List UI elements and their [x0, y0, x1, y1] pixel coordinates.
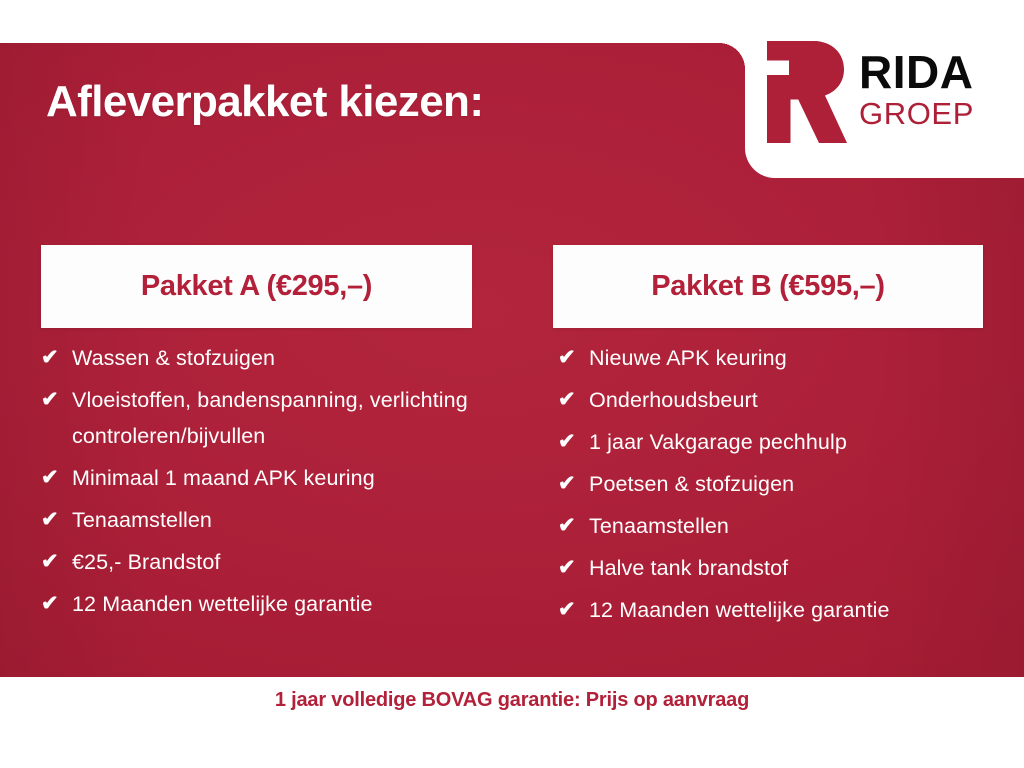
list-item: ✔Tenaamstellen	[41, 502, 511, 538]
package-a-header[interactable]: Pakket A (€295,–)	[41, 245, 472, 328]
checkmark-icon: ✔	[558, 382, 580, 418]
footer-note: 1 jaar volledige BOVAG garantie: Prijs o…	[275, 689, 749, 712]
list-item: ✔Vloeistoffen, bandenspanning, verlichti…	[41, 382, 511, 454]
list-item-label: Nieuwe APK keuring	[589, 340, 1008, 376]
list-item-label: Wassen & stofzuigen	[72, 340, 502, 376]
checkmark-icon: ✔	[41, 586, 63, 622]
list-item-label: Poetsen & stofzuigen	[589, 466, 1008, 502]
package-b-feature-list: ✔Nieuwe APK keuring✔Onderhoudsbeurt✔1 ja…	[558, 340, 1008, 634]
list-item-label: Minimaal 1 maand APK keuring	[72, 460, 502, 496]
list-item: ✔1 jaar Vakgarage pechhulp	[558, 424, 1008, 460]
list-item: ✔Nieuwe APK keuring	[558, 340, 1008, 376]
list-item-label: Tenaamstellen	[589, 508, 1008, 544]
list-item-label: 1 jaar Vakgarage pechhulp	[589, 424, 1008, 460]
list-item: ✔Wassen & stofzuigen	[41, 340, 511, 376]
rida-r-monogram-icon	[761, 35, 847, 143]
checkmark-icon: ✔	[41, 382, 63, 418]
list-item-label: 12 Maanden wettelijke garantie	[72, 586, 502, 622]
list-item-label: Tenaamstellen	[72, 502, 502, 538]
list-item: ✔Poetsen & stofzuigen	[558, 466, 1008, 502]
package-a-title: Pakket A (€295,–)	[141, 270, 372, 303]
list-item-label: Halve tank brandstof	[589, 550, 1008, 586]
checkmark-icon: ✔	[558, 592, 580, 628]
list-item: ✔Onderhoudsbeurt	[558, 382, 1008, 418]
checkmark-icon: ✔	[558, 424, 580, 460]
checkmark-icon: ✔	[41, 460, 63, 496]
list-item: ✔Minimaal 1 maand APK keuring	[41, 460, 511, 496]
checkmark-icon: ✔	[558, 340, 580, 376]
package-a-feature-list: ✔Wassen & stofzuigen✔Vloeistoffen, bande…	[41, 340, 511, 628]
checkmark-icon: ✔	[41, 544, 63, 580]
brand-wordmark: RIDA GROEP	[859, 49, 974, 129]
package-b-title: Pakket B (€595,–)	[651, 270, 885, 303]
list-item: ✔€25,- Brandstof	[41, 544, 511, 580]
list-item: ✔Halve tank brandstof	[558, 550, 1008, 586]
checkmark-icon: ✔	[558, 550, 580, 586]
list-item-label: €25,- Brandstof	[72, 544, 502, 580]
checkmark-icon: ✔	[41, 340, 63, 376]
checkmark-icon: ✔	[41, 502, 63, 538]
list-item-label: 12 Maanden wettelijke garantie	[589, 592, 1008, 628]
footer-bar: 1 jaar volledige BOVAG garantie: Prijs o…	[0, 677, 1024, 768]
slide-afleverpakket: Afleverpakket kiezen: RIDA GROEP Pakket …	[0, 0, 1024, 768]
list-item: ✔Tenaamstellen	[558, 508, 1008, 544]
package-b-header[interactable]: Pakket B (€595,–)	[553, 245, 983, 328]
checkmark-icon: ✔	[558, 466, 580, 502]
logo-panel-notch	[719, 43, 745, 69]
list-item: ✔12 Maanden wettelijke garantie	[558, 592, 1008, 628]
brand-name-rida: RIDA	[859, 49, 974, 95]
checkmark-icon: ✔	[558, 508, 580, 544]
list-item-label: Onderhoudsbeurt	[589, 382, 1008, 418]
list-item: ✔12 Maanden wettelijke garantie	[41, 586, 511, 622]
page-title: Afleverpakket kiezen:	[46, 78, 483, 126]
brand-name-groep: GROEP	[859, 98, 974, 129]
list-item-label: Vloeistoffen, bandenspanning, verlichtin…	[72, 382, 502, 454]
brand-logo: RIDA GROEP	[745, 0, 1024, 178]
